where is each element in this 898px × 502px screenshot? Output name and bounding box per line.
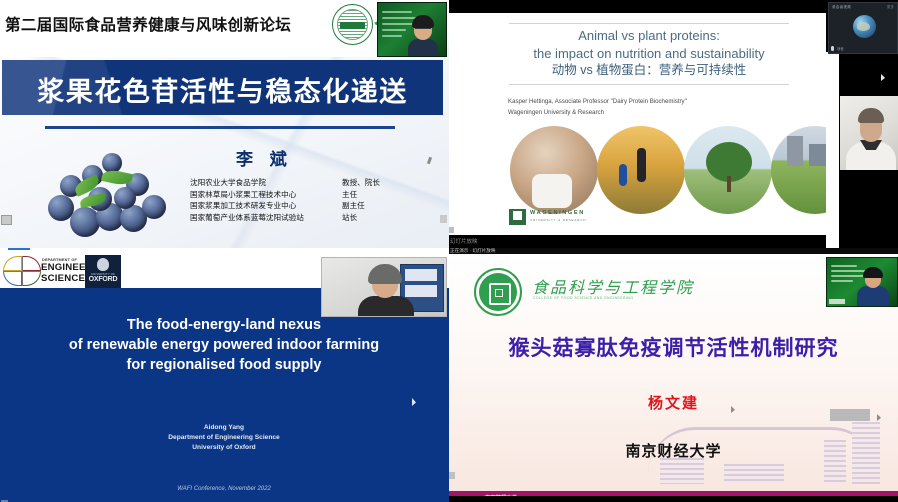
presenter-webcam-mushroom[interactable] [826, 257, 898, 307]
slide-title: The food-energy-land nexus of renewable … [24, 315, 424, 375]
slide-title-rule [45, 126, 395, 129]
slide-berry-anthocyanin[interactable]: 浆果花色苷活性与稳态化递送 李 斌 沈阳农业大 [0, 57, 449, 248]
slide-edge-chip-right [440, 215, 447, 223]
affiliation-role: 主任 [342, 189, 357, 201]
speaker-name: 李 斌 [236, 145, 293, 170]
photo-circle-runners [597, 126, 685, 214]
meeting-grid-screen: 第二届国际食品营养健康与风味创新论坛 食 浆果花色苷活性与稳态化递送 [0, 0, 898, 502]
college-name-en: COLLEGE OF FOOD SCIENCE AND ENGINEERING [533, 296, 634, 300]
slide-food-energy-land[interactable]: The food-energy-land nexus of renewable … [0, 288, 449, 502]
tile-footer-label: 静音 [837, 46, 844, 51]
microphone-icon[interactable] [831, 46, 834, 51]
oxford-wordmark: OXFORD [87, 276, 119, 283]
photo-circle-milk-drinker [510, 126, 598, 214]
institution-line: Wageningen University & Research [508, 109, 604, 116]
slide-edge-chip-left [1, 215, 12, 225]
author-name: Aidong Yang [24, 423, 424, 433]
tile-header-label: 参会者视频 [832, 5, 851, 10]
wageningen-mark-icon [509, 209, 526, 225]
affiliation-org: 国家葡萄产业体系蓝莓沈阳试验站 [190, 212, 342, 224]
affiliation-org: 沈阳农业大学食品学院 [190, 177, 342, 189]
wageningen-tagline: UNIVERSITY & RESEARCH [530, 218, 586, 222]
speaker-affiliations: 沈阳农业大学食品学院教授、院长 国家林草局小浆果工程技术中心主任 国家浆果加工技… [190, 177, 440, 223]
panel-top-left[interactable]: 第二届国际食品营养健康与风味创新论坛 食 浆果花色苷活性与稳态化递送 [0, 0, 449, 248]
wageningen-wordmark: WAGENINGEN [530, 210, 585, 216]
slide-bottom-band-text: 南京财经大学 [485, 494, 517, 496]
slide-title-line1: The food-energy-land nexus [24, 315, 424, 335]
slide-title: 浆果花色苷活性与稳态化递送 [2, 70, 443, 109]
oxford-crest-logo: UNIVERSITY OF OXFORD [85, 255, 121, 288]
affiliation-role: 教授、院长 [342, 177, 380, 189]
speaker-video-thumbnail-1[interactable] [377, 2, 447, 57]
status-text: 幻灯片放映 [450, 237, 478, 245]
photo-circle-tree [684, 126, 772, 214]
presenter-name: 杨文建 [469, 392, 878, 413]
wageningen-logo: WAGENINGEN UNIVERSITY & RESEARCH [509, 209, 639, 226]
title-rule-top [509, 23, 789, 24]
title-rule-bottom [509, 84, 789, 85]
slide-title-line2: the impact on nutrition and sustainabili… [479, 45, 819, 63]
selection-highlight-box [830, 409, 870, 421]
presenter-organization: 南京财经大学 [469, 440, 878, 461]
university-seal-icon [332, 4, 373, 45]
author-department: Department of Engineering Science [24, 433, 424, 443]
slide-title: 猴头菇寡肽免疫调节活性机制研究 [469, 332, 878, 362]
affiliation-role: 副主任 [342, 200, 365, 212]
author-university: University of Oxford [24, 443, 424, 453]
mouse-cursor [881, 74, 885, 81]
affiliation-role: 站长 [342, 212, 357, 224]
tile-more-label[interactable]: 更多 [887, 5, 894, 10]
slide-edge-chip-left [449, 227, 454, 233]
slide-title: Animal vs plant proteins: the impact on … [479, 27, 819, 80]
college-name-cn: 食品科学与工程学院 [532, 274, 694, 298]
mouse-cursor [412, 398, 416, 406]
engineering-science-logo-icon [3, 256, 43, 288]
college-logo-icon [474, 268, 522, 316]
slide-footer: WAFI Conference, November 2022 [24, 486, 424, 492]
slide-author-block: Aidong Yang Department of Engineering Sc… [24, 423, 424, 452]
participant-video-strip[interactable]: 参会者视频 更多 静音 [826, 0, 898, 248]
forum-header-bar: 第二届国际食品营养健康与风味创新论坛 食 [0, 0, 449, 57]
presenter-webcam-oxford[interactable] [321, 257, 447, 317]
affiliation-org: 国家浆果加工技术研发专业中心 [190, 200, 342, 212]
slide-title-band: 浆果花色苷活性与稳态化递送 [2, 60, 443, 115]
participant-tile-globe[interactable]: 参会者视频 更多 静音 [828, 2, 898, 54]
slide-title-line2: of renewable energy powered indoor farmi… [24, 335, 424, 355]
affiliation-org: 国家林草局小浆果工程技术中心 [190, 189, 342, 201]
slide-title-line1: Animal vs plant proteins: [479, 27, 819, 45]
presenter-line: Kasper Hettinga, Associate Professor "Da… [508, 98, 687, 105]
slide-title-line3: for regionalised food supply [24, 355, 424, 375]
panel-bottom-left[interactable]: DEPARTMENT OF ENGINEERING SCIENCE UNIVER… [0, 248, 449, 502]
blueberries-image [36, 143, 176, 241]
logo-dept-line2: SCIENCE [41, 273, 85, 284]
participant-webcam-tile[interactable] [840, 96, 898, 170]
forum-title: 第二届国际食品营养健康与风味创新论坛 [5, 13, 291, 35]
strip-white-gap [826, 52, 839, 248]
globe-avatar-icon [853, 15, 876, 38]
slide-bottom-band: 南京财经大学 [449, 491, 898, 496]
slide-edge-chip-left [449, 472, 455, 479]
slide-title-line3-chinese: 动物 vs 植物蛋白：营养与可持续性 [479, 62, 819, 80]
